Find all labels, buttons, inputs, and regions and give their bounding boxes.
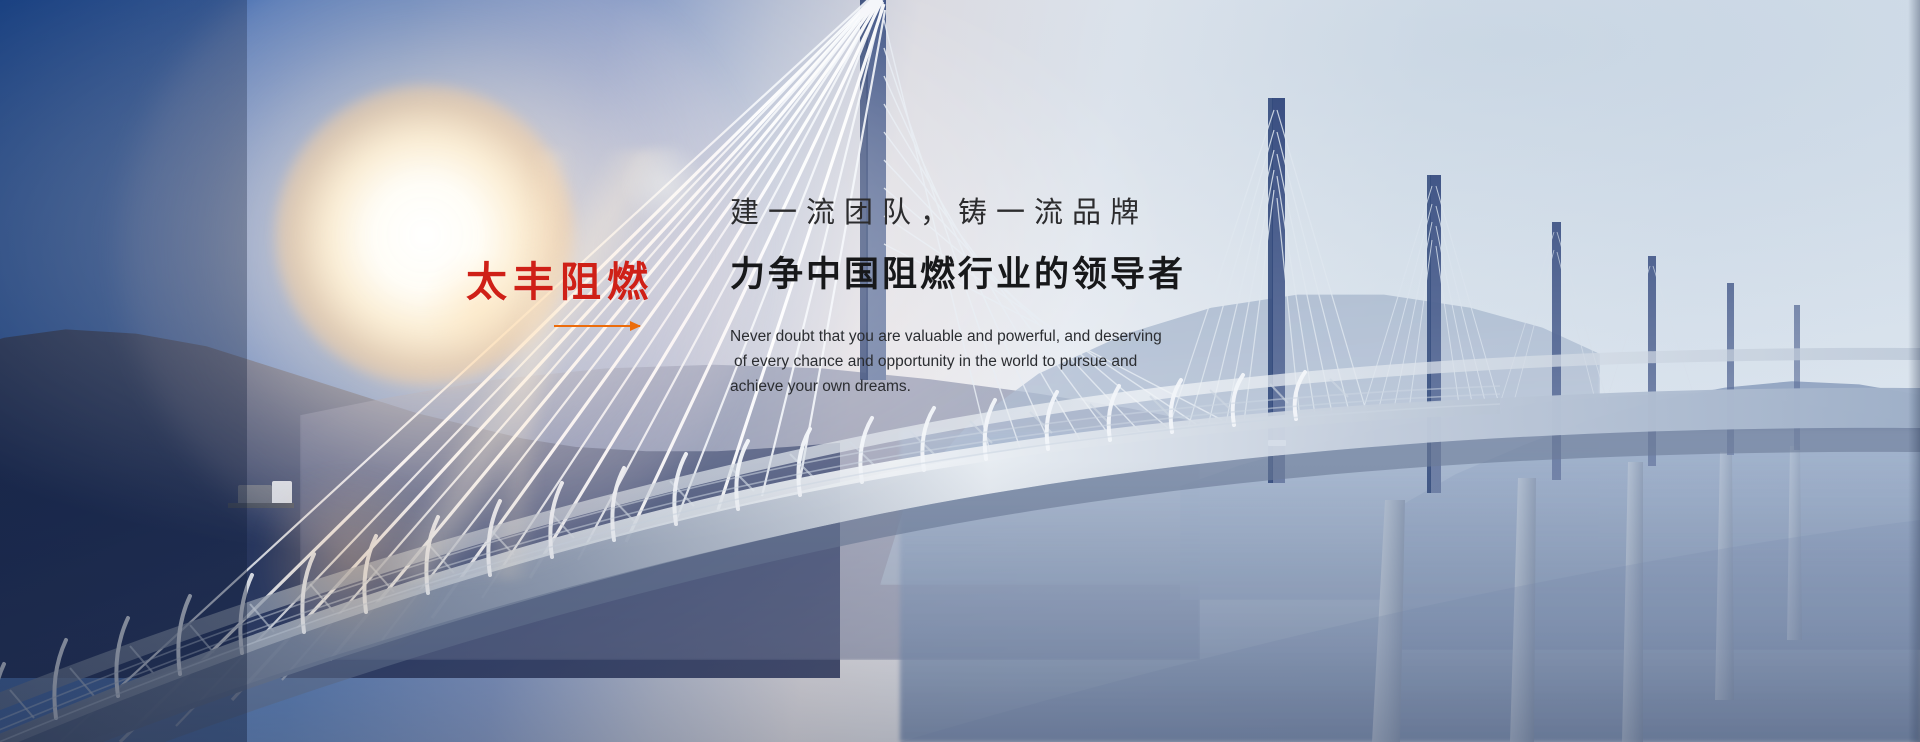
paragraph-line-1: Never doubt that you are valuable and po…	[730, 324, 1200, 349]
arrow-right-icon	[554, 325, 640, 327]
brand-wordmark: 太丰阻燃	[466, 262, 676, 303]
brand-logo[interactable]: 太丰阻燃	[466, 262, 676, 327]
hero-banner: 太丰阻燃 建一流团队，铸一流品牌 力争中国阻燃行业的领导者 Never doub…	[0, 0, 1920, 742]
headline-paragraph: Never doubt that you are valuable and po…	[730, 324, 1200, 399]
paragraph-line-2: of every chance and opportunity in the w…	[730, 349, 1200, 374]
banner-content: 太丰阻燃 建一流团队，铸一流品牌 力争中国阻燃行业的领导者 Never doub…	[0, 0, 1920, 742]
headline-title: 力争中国阻燃行业的领导者	[730, 254, 1370, 296]
headline-group: 建一流团队，铸一流品牌 力争中国阻燃行业的领导者 Never doubt tha…	[730, 195, 1370, 399]
paragraph-line-3: achieve your own dreams.	[730, 374, 1200, 399]
headline-subtitle: 建一流团队，铸一流品牌	[730, 195, 1370, 230]
